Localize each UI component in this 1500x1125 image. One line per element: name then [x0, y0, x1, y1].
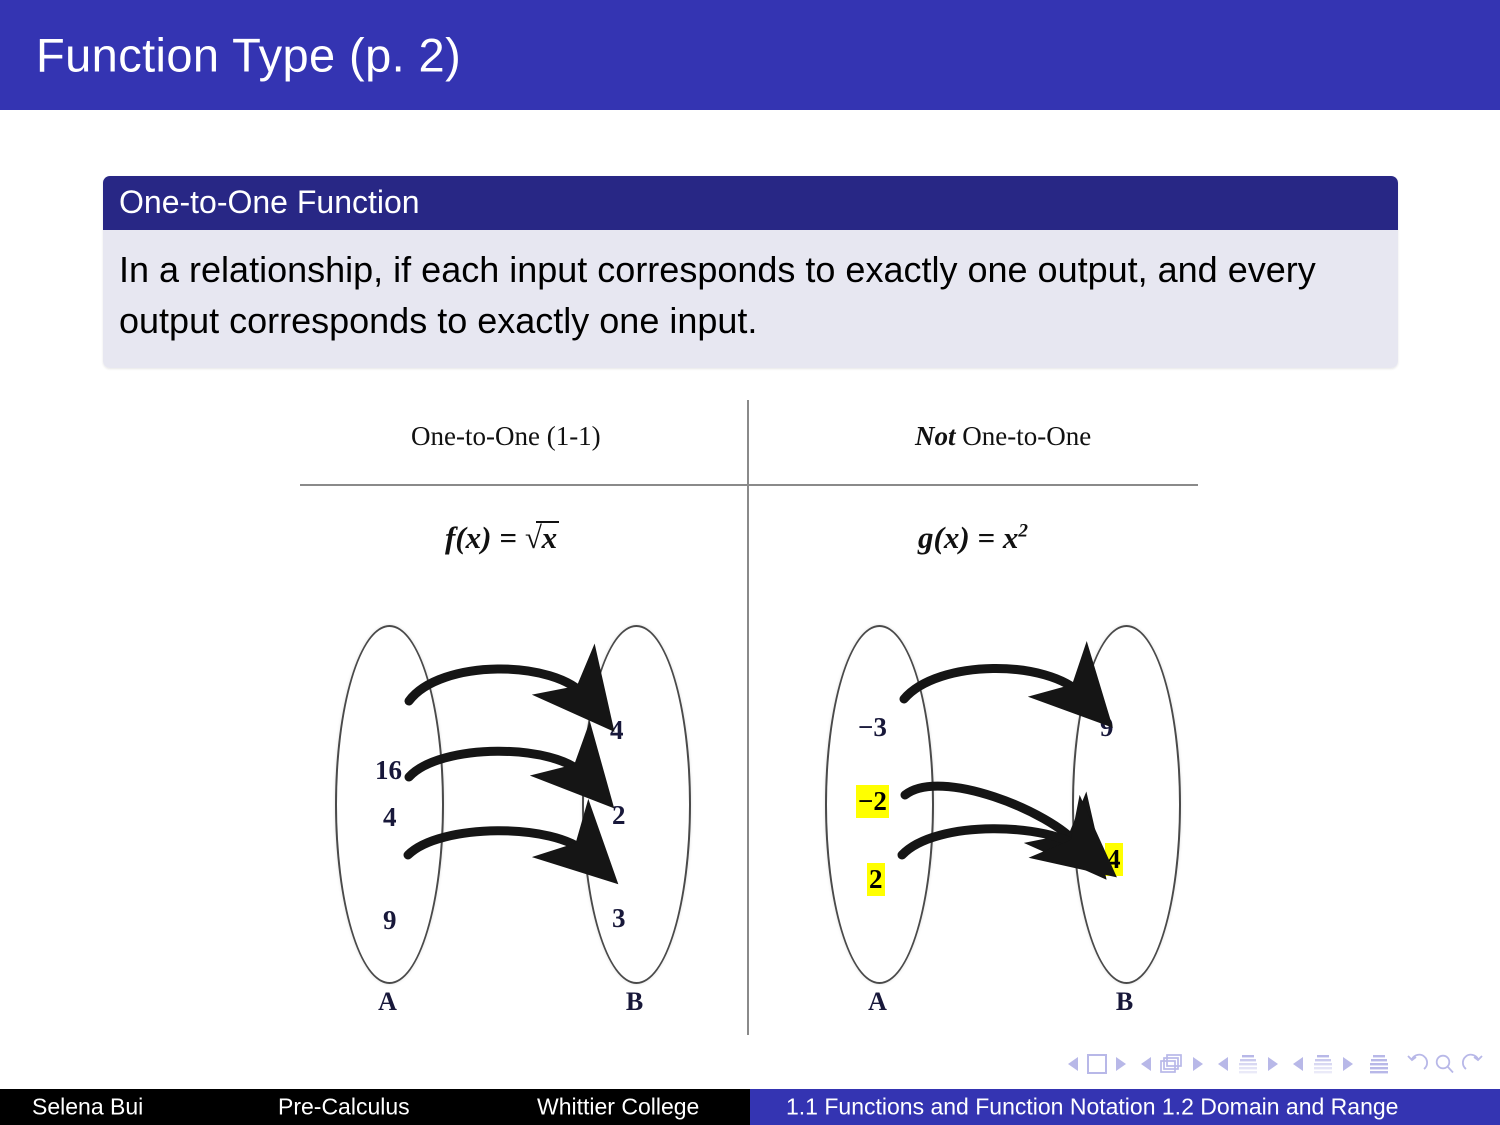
prev-frame-icon[interactable] — [1141, 1057, 1151, 1071]
formula-f-rhs: √x — [525, 520, 558, 555]
formula-g-of-x: g(x) = x2 — [918, 520, 1028, 556]
arrow-9-to-3 — [408, 831, 586, 855]
footer-section: 1.1 Functions and Function Notation 1.2 … — [786, 1094, 1398, 1121]
formula-g-lhs: g(x) = — [918, 520, 995, 555]
footer-subject: Pre-Calculus — [278, 1094, 410, 1121]
back-icon[interactable] — [1405, 1053, 1429, 1075]
next-frame-icon[interactable] — [1193, 1057, 1203, 1071]
set-a-right-label: A — [825, 987, 930, 1017]
arrow-16-to-4 — [409, 669, 586, 701]
frames-icon[interactable] — [1160, 1053, 1184, 1075]
nav-history-group[interactable] — [1405, 1053, 1485, 1075]
mapping-arrows-left — [320, 615, 700, 1035]
column-heading-one-to-one-text: One-to-One (1-1) — [411, 421, 601, 451]
definition-block-body: In a relationship, if each input corresp… — [103, 230, 1398, 368]
prev-slide-icon[interactable] — [1068, 1057, 1078, 1071]
definition-block-heading: One-to-One Function — [103, 176, 1398, 230]
arrow-minus3-to-9 — [904, 668, 1082, 699]
nav-frame-group[interactable] — [1141, 1053, 1203, 1075]
next-slide-icon[interactable] — [1116, 1057, 1126, 1071]
document-icon[interactable] — [1368, 1053, 1390, 1075]
footer-author: Selena Bui — [32, 1094, 143, 1121]
set-a-label: A — [335, 987, 440, 1017]
section-icon[interactable] — [1312, 1053, 1334, 1075]
page-title: Function Type (p. 2) — [36, 28, 461, 83]
definition-block: One-to-One Function In a relationship, i… — [103, 176, 1398, 368]
mapping-arrows-right — [810, 615, 1190, 1035]
formula-g-exponent: 2 — [1018, 521, 1028, 542]
nav-subsection-group[interactable] — [1218, 1053, 1278, 1075]
formula-g-rhs: x — [1003, 520, 1019, 555]
next-subsection-icon[interactable] — [1268, 1057, 1278, 1071]
search-icon[interactable] — [1433, 1053, 1457, 1075]
column-heading-not-prefix: Not — [915, 421, 956, 451]
footer-institution: Whittier College — [537, 1094, 699, 1121]
formula-f-of-x: f(x) = √x — [445, 520, 557, 556]
slide-title-bar: Function Type (p. 2) — [0, 0, 1500, 110]
nav-slide-group[interactable] — [1068, 1054, 1126, 1074]
next-section-icon[interactable] — [1343, 1057, 1353, 1071]
forward-icon[interactable] — [1461, 1053, 1485, 1075]
mapping-figure: One-to-One (1-1) Not One-to-One f(x) = √… — [0, 380, 1500, 1050]
sqrt-bar — [536, 521, 560, 523]
set-b-label: B — [582, 987, 687, 1017]
prev-section-icon[interactable] — [1293, 1057, 1303, 1071]
diagram-one-to-one: 16 4 9 4 2 3 A B — [320, 615, 700, 1035]
arrow-2-to-4 — [902, 829, 1082, 855]
column-heading-one-to-one: One-to-One (1-1) — [411, 421, 601, 452]
footer-right-section: 1.1 Functions and Function Notation 1.2 … — [750, 1089, 1500, 1125]
formula-f-lhs: f(x) = — [445, 520, 517, 555]
beamer-navigation-symbols[interactable] — [955, 1047, 1485, 1081]
set-b-right-label: B — [1072, 987, 1177, 1017]
formula-f-sqrt: √x — [525, 520, 558, 556]
figure-horizontal-rule — [300, 484, 1198, 486]
slide-footer: Selena Bui Pre-Calculus Whittier College… — [0, 1089, 1500, 1125]
diagram-not-one-to-one: −3 −2 2 9 4 A B — [810, 615, 1190, 1035]
column-heading-not-one-to-one: Not One-to-One — [915, 421, 1091, 452]
prev-subsection-icon[interactable] — [1218, 1057, 1228, 1071]
nav-section-group[interactable] — [1293, 1053, 1353, 1075]
figure-vertical-divider — [747, 400, 749, 1035]
slide-icon[interactable] — [1087, 1054, 1107, 1074]
column-heading-not-one-to-one-text: One-to-One — [962, 421, 1091, 451]
arrow-4-to-2 — [409, 751, 584, 777]
subsection-icon[interactable] — [1237, 1053, 1259, 1075]
footer-left-section: Selena Bui Pre-Calculus Whittier College — [0, 1089, 750, 1125]
